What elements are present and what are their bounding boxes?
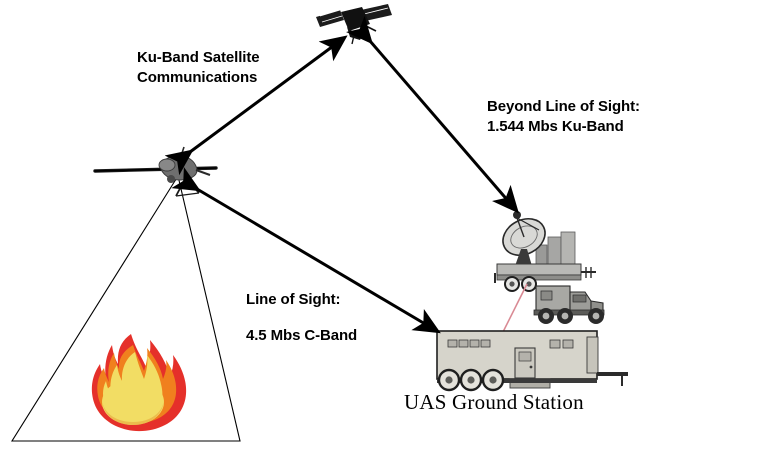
ground-station-trailer-icon [437, 331, 628, 390]
label-bls-line2: 1.544 Mbs Ku-Band [487, 118, 624, 135]
label-beyond-line-of-sight: Beyond Line of Sight:1.544 Mbs Ku-Band [487, 97, 640, 137]
satellite-icon [316, 4, 392, 44]
label-los-line2: 4.5 Mbs C-Band [246, 327, 357, 344]
label-ku-line1: Ku-Band Satellite [137, 49, 259, 66]
military-truck-icon [534, 286, 604, 324]
label-ku-line2: Communications [137, 69, 257, 86]
satellite-dish-icon [495, 211, 596, 291]
label-line-of-sight: Line of Sight:4.5 Mbs C-Band [246, 282, 357, 354]
diagram-canvas: Ku-Band SatelliteCommunications Beyond L… [0, 0, 762, 455]
label-los-line1: Line of Sight: [246, 291, 340, 308]
label-bls-line1: Beyond Line of Sight: [487, 98, 640, 115]
diagram-graphics [0, 0, 762, 455]
fire-icon [92, 334, 186, 431]
label-ku-band-satellite-communications: Ku-Band SatelliteCommunications [137, 48, 259, 88]
label-uas-ground-station: UAS Ground Station [404, 392, 584, 412]
